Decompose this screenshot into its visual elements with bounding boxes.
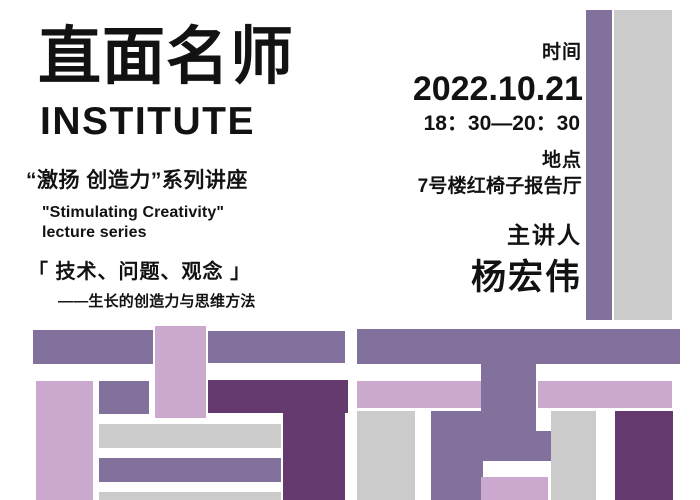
series-title: “激扬 创造力”系列讲座 [26, 170, 248, 191]
block-gray-bar-3 [99, 492, 281, 500]
speaker-name: 杨宏伟 [471, 260, 582, 295]
time-label: 时间 [542, 43, 582, 62]
block-purple-tall-2 [431, 411, 483, 500]
block-lavender-tall-left [36, 381, 93, 500]
block-purple-bar-2 [99, 458, 281, 482]
block-lavender-bar-left [357, 381, 481, 408]
series-title-english: "Stimulating Creativity" lecture series [42, 203, 224, 243]
block-purple-small-mid [481, 431, 551, 461]
block-purple-t-stem [481, 364, 536, 447]
title-column: 直面名师 INSTITUTE “激扬 创造力”系列讲座 "Stimulating… [0, 0, 370, 320]
block-gray-tall-3 [551, 411, 596, 500]
topic-title: 「 技术、问题、观念 」 [28, 262, 251, 282]
block-purple-bar-right [357, 329, 680, 364]
block-purple-small-left [99, 381, 149, 414]
block-gray-bar-1 [99, 424, 281, 448]
page-title: 直面名师 [38, 26, 294, 89]
block-purple-dark-far-right [615, 411, 673, 500]
page-title-english: INSTITUTE [40, 102, 255, 141]
block-gray-tall-1 [357, 411, 415, 500]
event-date: 2022.10.21 [413, 72, 583, 106]
block-purple-dark-center [208, 380, 348, 413]
event-info-column: 时间 2022.10.21 18：30—20：30 地点 7号楼红椅子报告厅 主… [360, 0, 582, 320]
block-lavender-tall-center [155, 326, 206, 418]
event-poster: 直面名师 INSTITUTE “激扬 创造力”系列讲座 "Stimulating… [0, 0, 700, 500]
block-purple-bar-center [208, 331, 345, 363]
topic-subtitle: ——生长的创造力与思维方法 [58, 294, 256, 309]
block-lavender-bar-right [538, 381, 672, 408]
speaker-label: 主讲人 [507, 224, 582, 247]
block-purple-dark-right-tall [283, 413, 345, 500]
series-title-english-line2: lecture series [42, 223, 224, 243]
event-time-range: 18：30—20：30 [424, 113, 580, 134]
place-value: 7号楼红椅子报告厅 [418, 177, 582, 196]
series-title-english-line1: "Stimulating Creativity" [42, 204, 224, 221]
vertical-bar-gray [614, 10, 672, 320]
vertical-bar-purple [586, 10, 612, 320]
block-lavender-small-mid [481, 477, 548, 500]
place-label: 地点 [542, 151, 582, 170]
block-purple-bar-left [33, 330, 153, 364]
